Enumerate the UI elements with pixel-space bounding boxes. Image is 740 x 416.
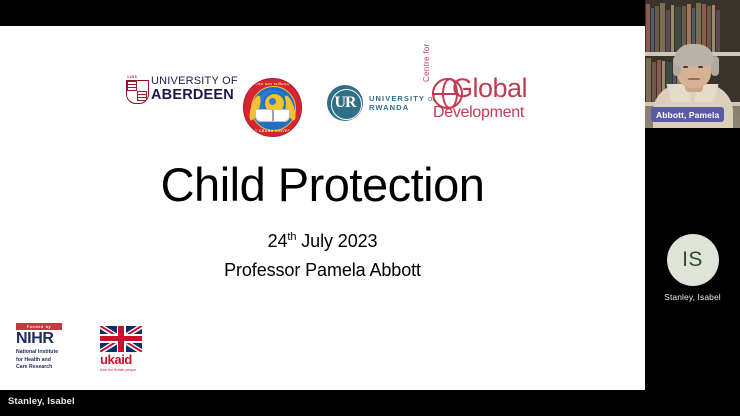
nihr-subtitle-line1: National Institute xyxy=(16,349,74,357)
ukaid-tagline: from the British people xyxy=(100,368,142,372)
slide-title: Child Protection xyxy=(0,160,645,209)
aau-open-book-icon xyxy=(255,109,290,122)
ukaid-word-aid: aid xyxy=(114,352,132,367)
slide-date-number: 24 xyxy=(268,231,288,251)
logo-university-of-rwanda: UR UNIVERSITY of RWANDA xyxy=(327,85,435,121)
rwanda-line1: UNIVERSITY xyxy=(369,94,425,103)
logo-nihr: Funded by NIHR National Institute for He… xyxy=(16,323,74,372)
aberdeen-wordmark: UNIVERSITY OF ABERDEEN xyxy=(151,76,238,103)
participant-video-rail: Abbott, Pamela IS Stanley, Isabel xyxy=(645,0,740,416)
aau-text-bottom: ADDIS ABABA UNIVERSITY xyxy=(244,129,301,133)
slide-date: 24th July 2023 xyxy=(0,231,645,252)
participant-tile-stanley-isabel[interactable]: IS Stanley, Isabel xyxy=(645,230,740,315)
logo-centre-for-global-development: Centre for Global Development xyxy=(422,76,517,128)
active-speaker-label: Stanley, Isabel xyxy=(8,396,75,407)
nihr-subtitle-line2: for Health and xyxy=(16,357,74,365)
aberdeen-line1: UNIVERSITY OF xyxy=(151,76,238,87)
logo-uk-aid: ukaid from the British people xyxy=(100,326,142,372)
slide-logo-strip: 1495 UNIVERSITY OF ABERDEEN xyxy=(0,38,645,116)
aberdeen-line2: ABERDEEN xyxy=(151,88,238,103)
union-jack-flag-icon xyxy=(100,326,142,352)
logo-university-of-aberdeen: 1495 UNIVERSITY OF ABERDEEN xyxy=(126,76,238,103)
nihr-acronym: NIHR xyxy=(16,331,74,347)
logo-addis-ababa-university: አዲስ አበባ ዩኒቭርሲቲ ADDIS ABABA UNIVERSITY xyxy=(243,78,302,137)
participant-tile-abbott-pamela[interactable]: Abbott, Pamela xyxy=(645,0,740,128)
slide-author: Professor Pamela Abbott xyxy=(0,260,645,281)
avatar: IS xyxy=(667,234,719,286)
participant-name-badge: Abbott, Pamela xyxy=(651,107,724,122)
rwanda-monogram-icon: UR xyxy=(327,85,363,121)
shared-slide[interactable]: 1495 UNIVERSITY OF ABERDEEN xyxy=(0,26,645,390)
nihr-funded-by-banner: Funded by xyxy=(16,323,62,330)
ukaid-wordmark: ukaid xyxy=(100,353,142,368)
cgd-centre-for-text: Centre for xyxy=(422,43,431,82)
rwanda-monogram-text: UR xyxy=(327,85,363,121)
cgd-word-development: Development xyxy=(433,105,524,121)
meeting-bottom-bar: Stanley, Isabel xyxy=(0,390,645,416)
slide-letterbox-top xyxy=(0,0,645,26)
slide-funder-logos: Funded by NIHR National Institute for He… xyxy=(16,323,142,372)
slide-date-rest: July 2023 xyxy=(296,231,377,251)
cgd-word-global: Global xyxy=(452,75,527,102)
nihr-subtitle-line3: Care Research xyxy=(16,364,74,372)
nihr-subtitle: National Institute for Health and Care R… xyxy=(16,349,74,372)
ukaid-word-uk: uk xyxy=(100,352,114,367)
participant-name-label: Stanley, Isabel xyxy=(645,292,740,302)
aberdeen-crest-year: 1495 xyxy=(127,75,137,79)
meeting-stage: 1495 UNIVERSITY OF ABERDEEN xyxy=(0,0,740,416)
slide-title-block: Child Protection 24th July 2023 Professo… xyxy=(0,160,645,281)
aberdeen-crest-icon: 1495 xyxy=(126,76,147,102)
